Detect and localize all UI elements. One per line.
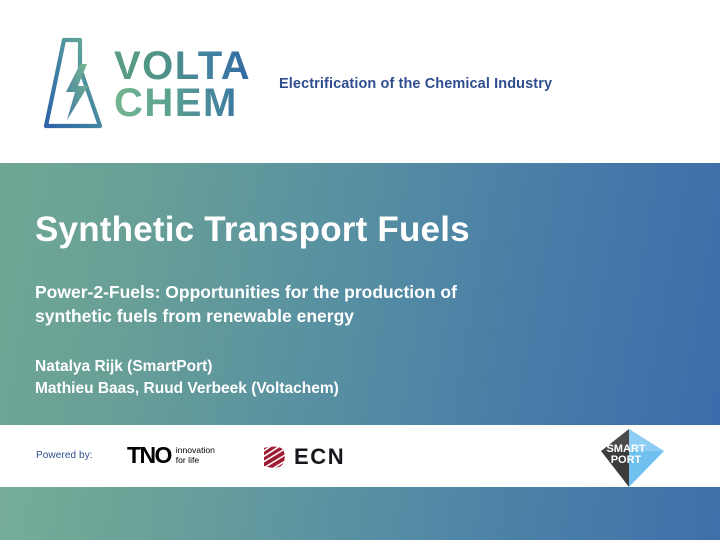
- wordmark-chem: CHEM: [114, 85, 251, 122]
- author-line-1: Natalya Rijk (SmartPort): [35, 356, 339, 378]
- ecn-wordmark: ECN: [294, 446, 345, 468]
- bottom-gradient-strip: [0, 487, 720, 540]
- voltachem-logo: VOLTA CHEM: [40, 34, 251, 136]
- tno-wordmark: TNO: [127, 444, 171, 467]
- slide-header: VOLTA CHEM Electrification of the Chemic…: [0, 0, 720, 163]
- tno-tagline: innovation for life: [176, 446, 215, 465]
- title-band: Synthetic Transport Fuels Power-2-Fuels:…: [0, 163, 720, 425]
- ecn-striped-shield-icon: [261, 444, 287, 470]
- powered-by-label: Powered by:: [36, 450, 93, 461]
- slide-subtitle: Power-2-Fuels: Opportunities for the pro…: [35, 281, 457, 328]
- smartport-logo: SMART PORT: [592, 427, 666, 489]
- smartport-word-bottom: PORT: [611, 454, 642, 466]
- tno-logo: TNO innovation for life: [127, 444, 215, 467]
- wordmark-volta: VOLTA: [114, 48, 251, 85]
- presentation-slide: VOLTA CHEM Electrification of the Chemic…: [0, 0, 720, 540]
- flask-lightning-icon: [40, 34, 104, 136]
- voltachem-wordmark: VOLTA CHEM: [114, 48, 251, 122]
- subtitle-line-2: synthetic fuels from renewable energy: [35, 305, 457, 329]
- slide-title: Synthetic Transport Fuels: [35, 210, 470, 250]
- author-line-2: Mathieu Baas, Ruud Verbeek (Voltachem): [35, 378, 339, 400]
- tno-tagline-line-2: for life: [176, 456, 215, 466]
- slide-authors: Natalya Rijk (SmartPort) Mathieu Baas, R…: [35, 356, 339, 401]
- header-tagline: Electrification of the Chemical Industry: [279, 76, 552, 92]
- ecn-logo: ECN: [261, 444, 345, 470]
- subtitle-line-1: Power-2-Fuels: Opportunities for the pro…: [35, 281, 457, 305]
